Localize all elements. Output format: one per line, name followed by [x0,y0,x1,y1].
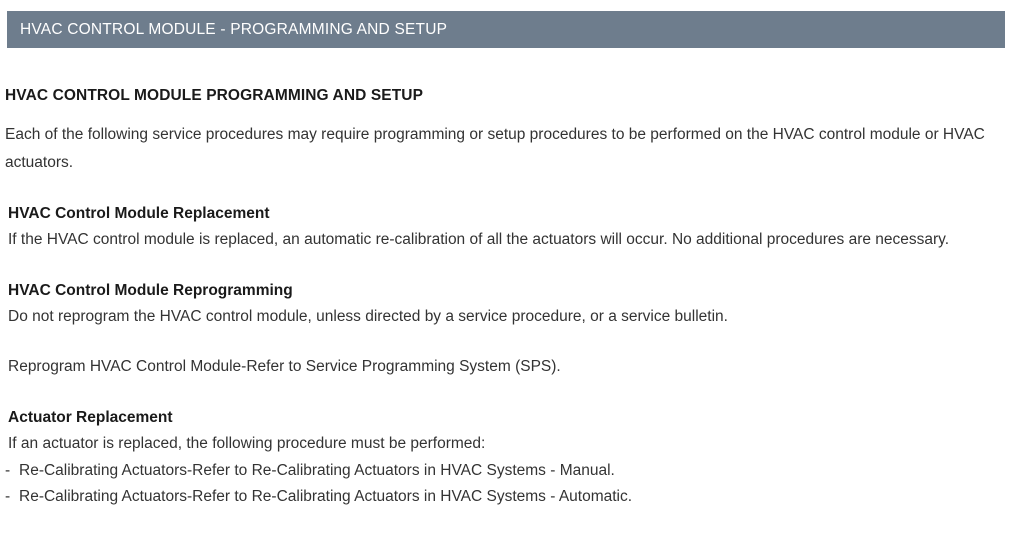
document-content: HVAC CONTROL MODULE PROGRAMMING AND SETU… [5,56,1000,510]
list-item-label: Re-Calibrating Actuators-Refer to Re-Cal… [19,462,615,479]
section-body: Do not reprogram the HVAC control module… [5,303,997,331]
section-heading: HVAC Control Module Replacement [5,202,1000,225]
section-actuator-replacement: Actuator Replacement If an actuator is r… [5,406,1000,510]
list-item-label: Re-Calibrating Actuators-Refer to Re-Cal… [19,488,632,505]
bullet-dash-icon: - [5,458,19,484]
actuator-procedure-list: -Re-Calibrating Actuators-Refer to Re-Ca… [5,458,1000,510]
page-title: HVAC CONTROL MODULE PROGRAMMING AND SETU… [5,87,1000,105]
section-heading: HVAC Control Module Reprogramming [5,279,1000,302]
bullet-dash-icon: - [5,484,19,510]
list-item: -Re-Calibrating Actuators-Refer to Re-Ca… [5,458,1000,484]
section-hvac-control-module-reprogramming: HVAC Control Module Reprogramming Do not… [5,279,1000,331]
list-item: -Re-Calibrating Actuators-Refer to Re-Ca… [5,484,1000,510]
section-heading: Actuator Replacement [5,406,1000,429]
section-body: If an actuator is replaced, the followin… [5,430,997,458]
section-hvac-control-module-replacement: HVAC Control Module Replacement If the H… [5,202,1000,254]
section-body: If the HVAC control module is replaced, … [5,226,997,254]
hvac-service-document-page: { "title_bar": { "text": "HVAC CONTROL M… [0,0,1012,553]
page-title-bar-label: HVAC CONTROL MODULE - PROGRAMMING AND SE… [7,21,447,39]
page-title-bar: HVAC CONTROL MODULE - PROGRAMMING AND SE… [7,11,1005,48]
reprogram-reference-note: Reprogram HVAC Control Module-Refer to S… [8,353,1000,381]
intro-paragraph: Each of the following service procedures… [5,121,991,177]
